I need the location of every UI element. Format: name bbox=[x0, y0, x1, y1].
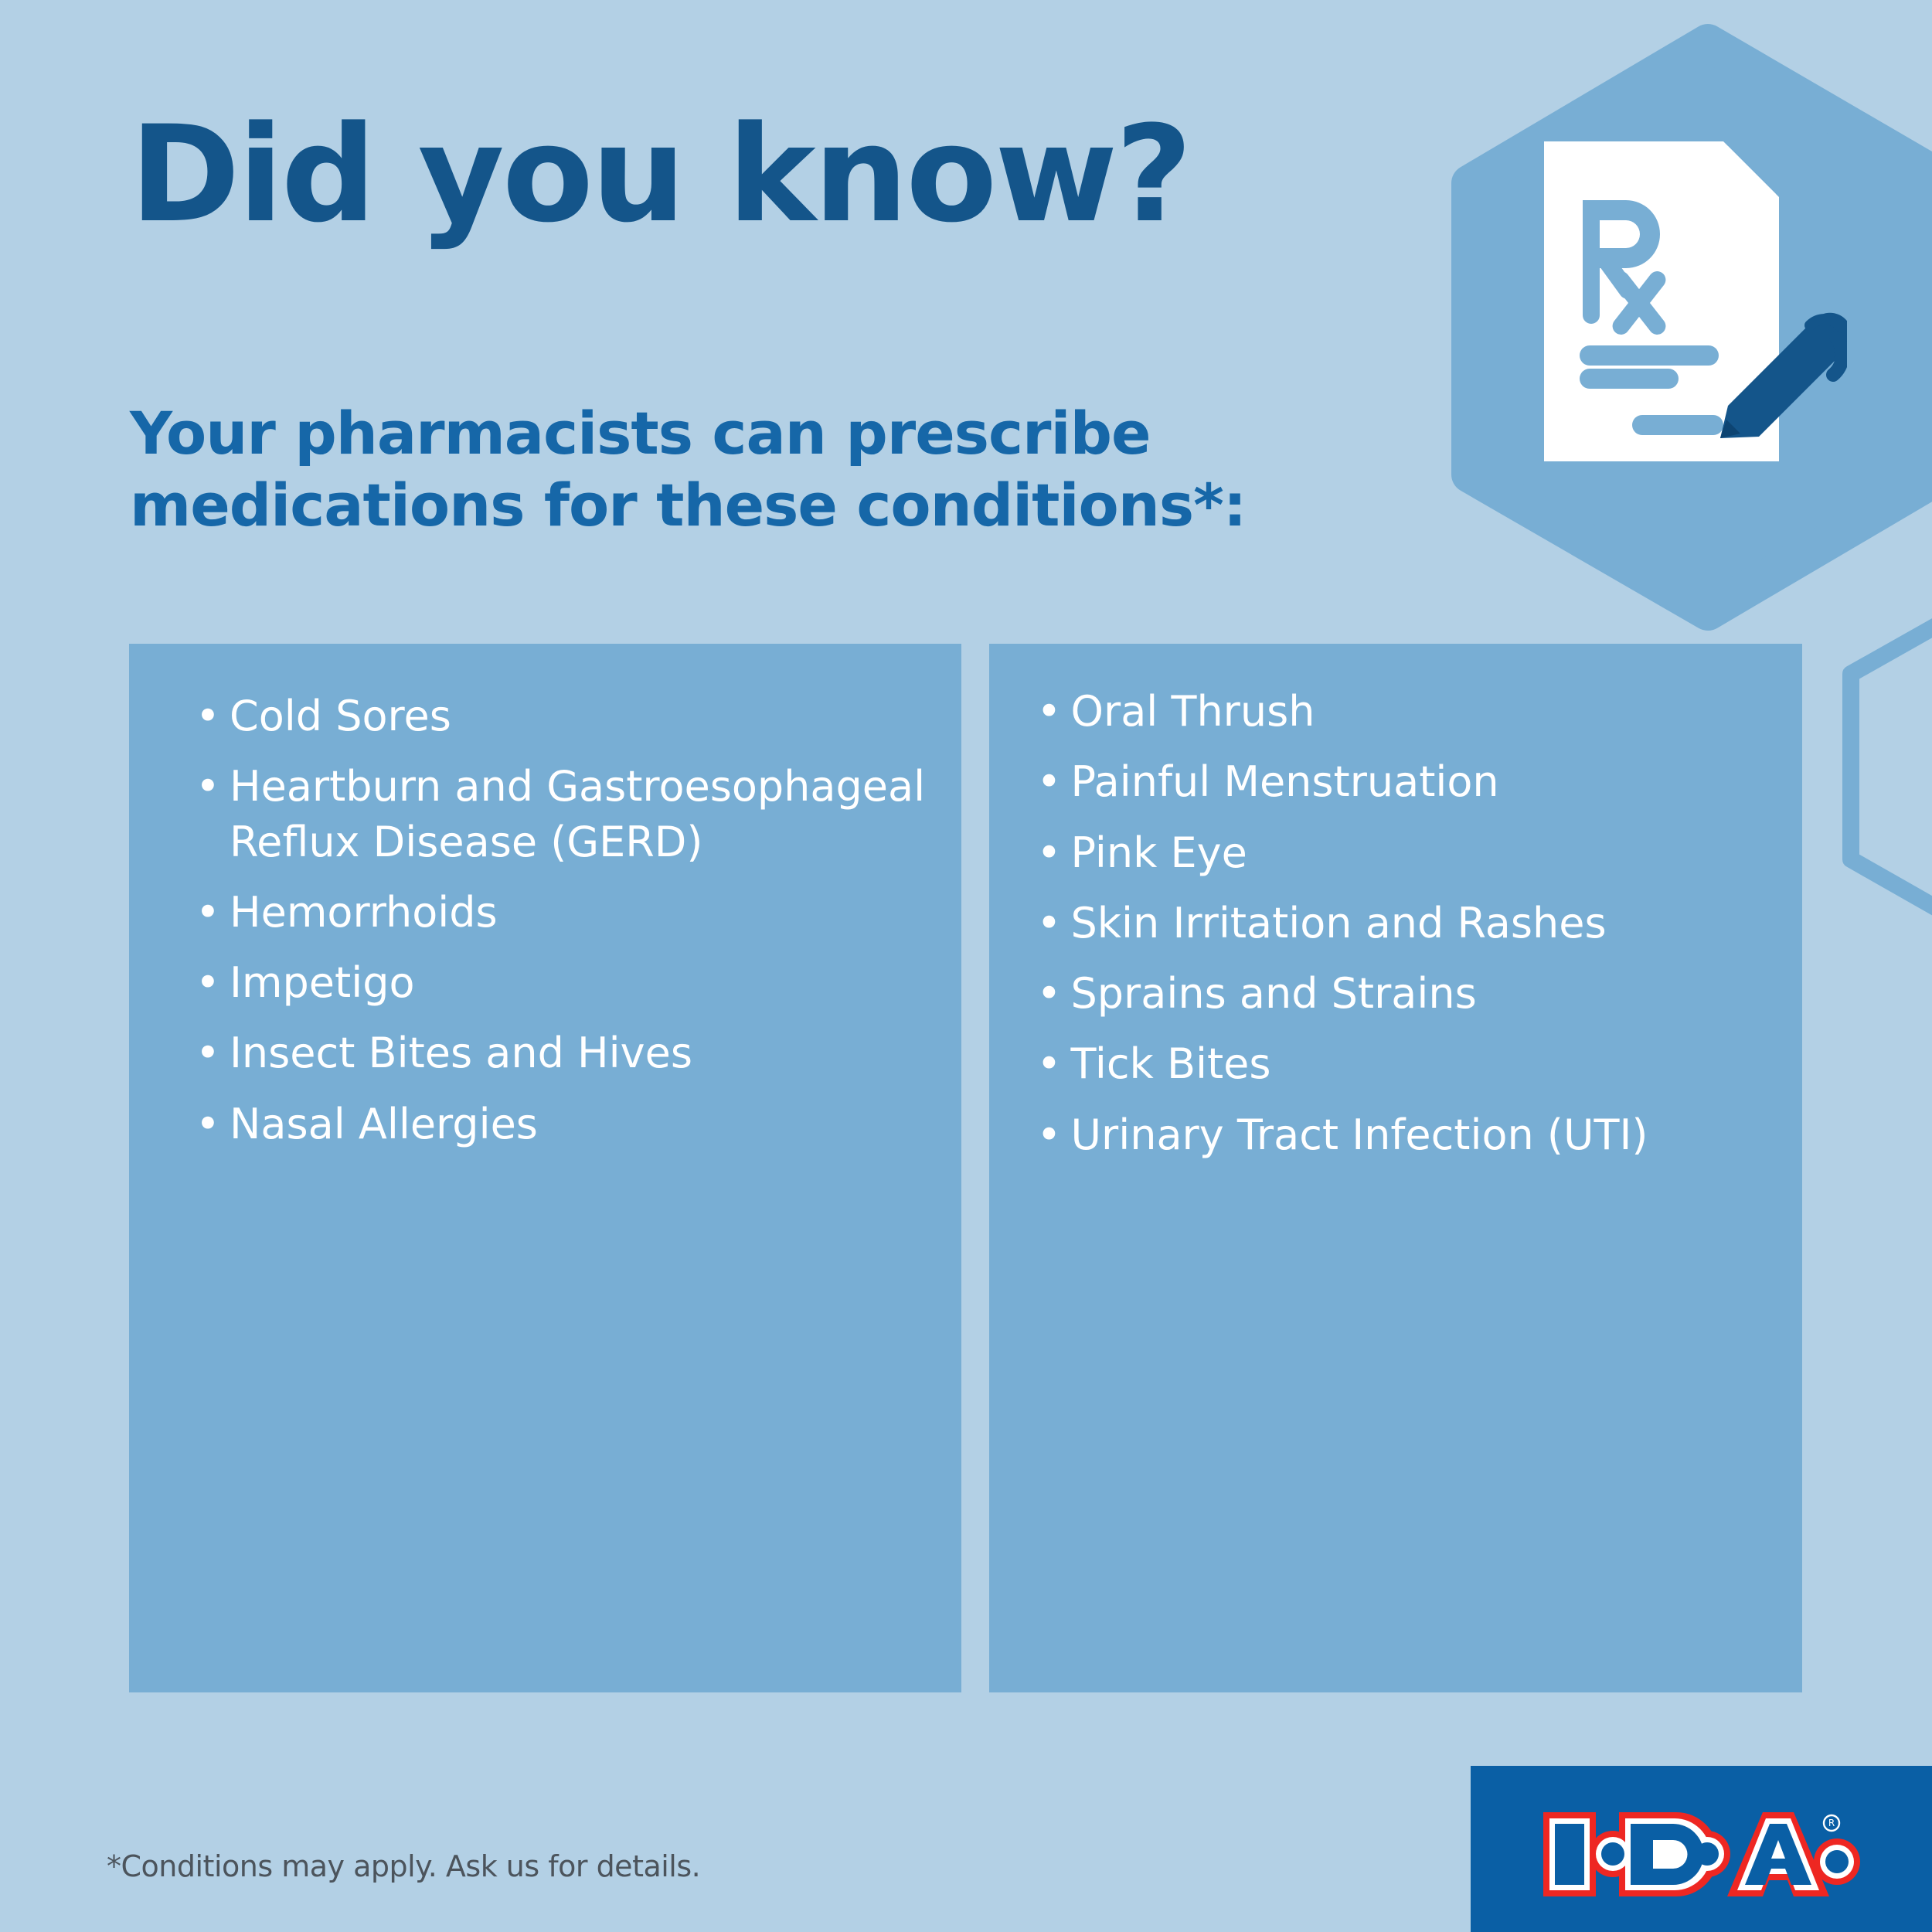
subtitle-line-2: medications for these conditions*: bbox=[130, 470, 1335, 542]
list-item: Impetigo bbox=[189, 955, 930, 1010]
list-item: Sprains and Strains bbox=[1031, 966, 1772, 1021]
list-item: Nasal Allergies bbox=[189, 1097, 930, 1151]
list-item: Insect Bites and Hives bbox=[189, 1026, 930, 1080]
list-item: Urinary Tract Infection (UTI) bbox=[1031, 1107, 1772, 1162]
conditions-list-right: Oral Thrush Painful Menstruation Pink Ey… bbox=[1031, 684, 1772, 1162]
list-item: Painful Menstruation bbox=[1031, 754, 1772, 809]
infographic-canvas: Did you know? Your pharmacists can presc… bbox=[0, 0, 1932, 1932]
svg-text:R: R bbox=[1828, 1818, 1835, 1828]
list-item: Skin Irritation and Rashes bbox=[1031, 896, 1772, 951]
subtitle: Your pharmacists can prescribe medicatio… bbox=[130, 398, 1335, 541]
list-item: Heartburn and Gastroesophageal Reflux Di… bbox=[189, 759, 930, 869]
doc-line-1 bbox=[1580, 345, 1719, 366]
ida-logo: R bbox=[1539, 1806, 1863, 1903]
doc-line-3 bbox=[1632, 415, 1723, 435]
list-item: Cold Sores bbox=[189, 689, 930, 743]
footnote: *Conditions may apply. Ask us for detail… bbox=[107, 1849, 700, 1883]
conditions-panels: Cold Sores Heartburn and Gastroesophagea… bbox=[129, 644, 1802, 1692]
conditions-panel-right: Oral Thrush Painful Menstruation Pink Ey… bbox=[989, 644, 1803, 1692]
list-item: Tick Bites bbox=[1031, 1036, 1772, 1091]
conditions-panel-left: Cold Sores Heartburn and Gastroesophagea… bbox=[129, 644, 961, 1692]
hexagon-outline-icon bbox=[1851, 576, 1932, 958]
subtitle-line-1: Your pharmacists can prescribe bbox=[130, 398, 1335, 470]
logo-block: R bbox=[1471, 1766, 1932, 1932]
conditions-list-left: Cold Sores Heartburn and Gastroesophagea… bbox=[189, 689, 930, 1151]
list-item: Hemorrhoids bbox=[189, 885, 930, 940]
list-item: Pink Eye bbox=[1031, 825, 1772, 880]
doc-line-2 bbox=[1580, 369, 1679, 389]
registered-mark-icon: R bbox=[1824, 1815, 1839, 1831]
prescription-document-icon bbox=[1538, 135, 1847, 468]
list-item: Oral Thrush bbox=[1031, 684, 1772, 739]
page-title: Did you know? bbox=[130, 108, 1190, 241]
